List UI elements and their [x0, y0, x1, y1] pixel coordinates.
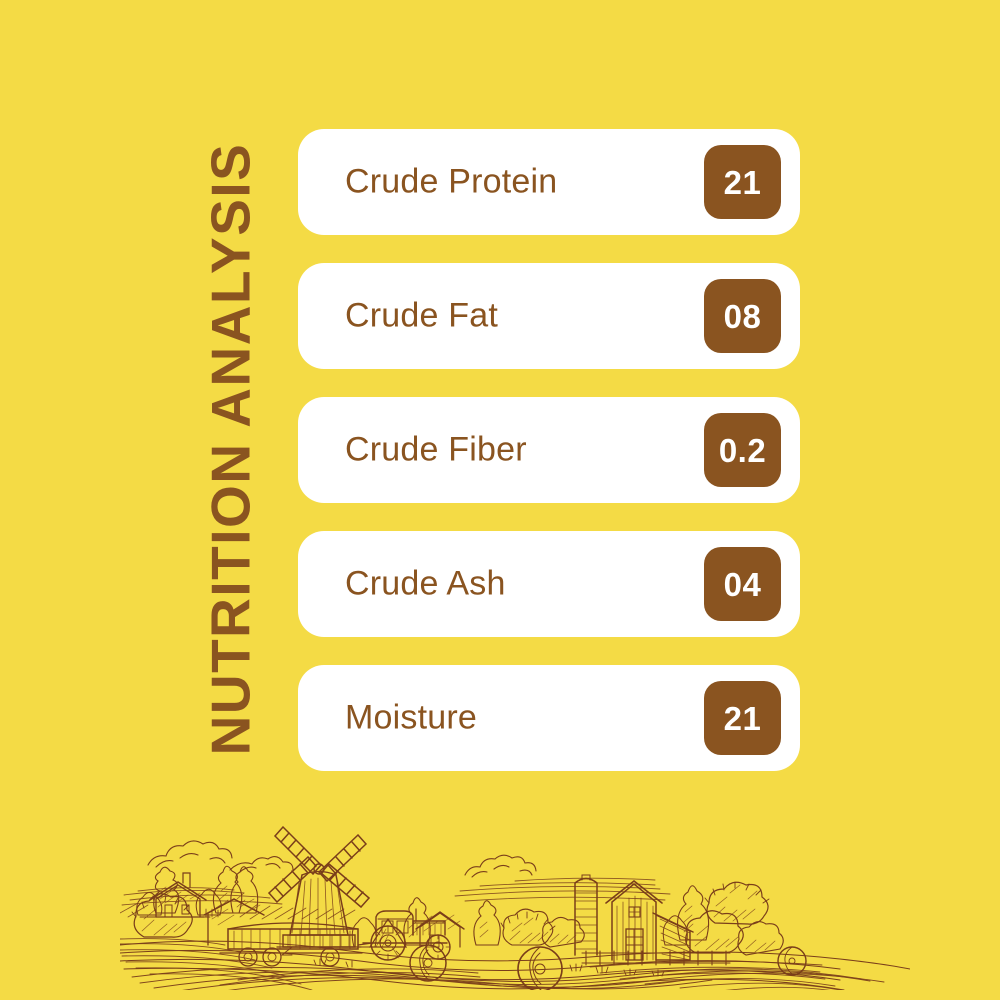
cloud-left [148, 841, 293, 872]
nutrient-value: 04 [724, 568, 762, 601]
nutrient-value: 21 [724, 166, 762, 199]
tree-far-right [705, 882, 769, 924]
nutrient-value: 21 [724, 702, 762, 735]
nutrient-label: Crude Ash [345, 565, 506, 604]
farm-landscape-illustration [120, 795, 910, 990]
nutrient-row-crude-fiber: Crude Fiber 0.2 [298, 397, 800, 503]
cloud-right [465, 855, 536, 877]
nutrient-list: Crude Protein 21 Crude Fat 08 Crude Fibe… [298, 129, 800, 771]
nutrient-label: Moisture [345, 699, 477, 738]
nutrient-value: 0.2 [719, 434, 766, 467]
tractor [363, 909, 450, 960]
nutrient-row-crude-protein: Crude Protein 21 [298, 129, 800, 235]
nutrition-analysis-poster: NUTRITION ANALYSIS Crude Protein 21 Crud… [0, 0, 1000, 1000]
bushes-mid-right [501, 909, 584, 947]
farm-landscape-svg [120, 795, 910, 990]
nutrient-value-badge: 08 [704, 279, 781, 353]
nutrient-row-moisture: Moisture 21 [298, 665, 800, 771]
page-title: NUTRITION ANALYSIS [204, 143, 259, 756]
nutrient-value-badge: 0.2 [704, 413, 781, 487]
windmill [269, 827, 369, 955]
nutrient-value-badge: 21 [704, 681, 781, 755]
bushes-behind-barn [686, 911, 784, 955]
nutrient-value-badge: 04 [704, 547, 781, 621]
nutrient-label: Crude Fiber [345, 431, 527, 470]
nutrient-value-badge: 21 [704, 145, 781, 219]
nutrient-value: 08 [724, 300, 762, 333]
barn [606, 881, 693, 960]
vertical-title-container: NUTRITION ANALYSIS [0, 0, 300, 900]
nutrient-label: Crude Fat [345, 297, 498, 336]
nutrient-row-crude-ash: Crude Ash 04 [298, 531, 800, 637]
nutrient-label: Crude Protein [345, 163, 557, 202]
nutrient-row-crude-fat: Crude Fat 08 [298, 263, 800, 369]
horizon-hatch-right [455, 878, 670, 901]
